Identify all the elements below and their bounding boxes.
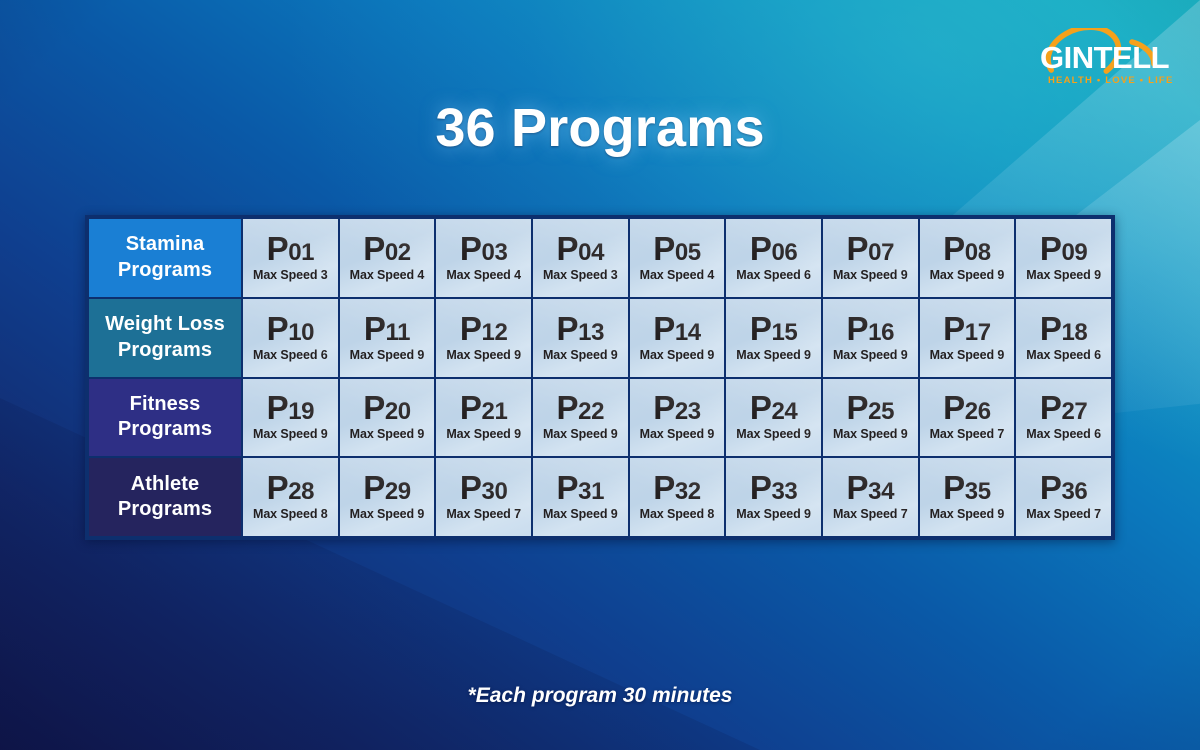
- program-max-speed: Max Speed 7: [825, 507, 916, 521]
- program-code-letter: P: [943, 230, 965, 267]
- program-code-letter: P: [847, 469, 869, 506]
- program-code-number: 33: [771, 478, 797, 505]
- program-code: P28: [245, 471, 336, 504]
- program-code-letter: P: [267, 230, 289, 267]
- program-max-speed: Max Speed 4: [342, 268, 433, 282]
- program-cell-P32[interactable]: P32Max Speed 8: [630, 458, 725, 536]
- program-max-speed: Max Speed 9: [535, 507, 626, 521]
- program-code-letter: P: [557, 310, 579, 347]
- program-code: P30: [438, 471, 529, 504]
- program-code-number: 28: [288, 478, 314, 505]
- program-cell-P02[interactable]: P02Max Speed 4: [340, 219, 435, 297]
- program-code-letter: P: [653, 389, 675, 426]
- program-cell-P18[interactable]: P18Max Speed 6: [1016, 299, 1111, 377]
- program-code-letter: P: [943, 389, 965, 426]
- program-cell-P11[interactable]: P11Max Speed 9: [340, 299, 435, 377]
- program-code-number: 01: [288, 239, 314, 266]
- program-code: P14: [632, 312, 723, 345]
- program-max-speed: Max Speed 9: [342, 348, 433, 362]
- program-code-number: 29: [385, 478, 411, 505]
- program-max-speed: Max Speed 8: [632, 507, 723, 521]
- program-code: P29: [342, 471, 433, 504]
- program-code-letter: P: [847, 310, 869, 347]
- program-code-letter: P: [653, 469, 675, 506]
- program-code: P33: [728, 471, 819, 504]
- program-cell-P12[interactable]: P12Max Speed 9: [436, 299, 531, 377]
- program-cell-P28[interactable]: P28Max Speed 8: [243, 458, 338, 536]
- program-cell-P34[interactable]: P34Max Speed 7: [823, 458, 918, 536]
- program-max-speed: Max Speed 4: [438, 268, 529, 282]
- program-max-speed: Max Speed 9: [632, 348, 723, 362]
- program-code-letter: P: [847, 389, 869, 426]
- program-cell-P24[interactable]: P24Max Speed 9: [726, 379, 821, 457]
- program-code-letter: P: [1040, 469, 1062, 506]
- program-code-number: 18: [1061, 319, 1087, 346]
- program-max-speed: Max Speed 9: [922, 268, 1013, 282]
- program-code-number: 24: [771, 398, 797, 425]
- program-cell-P21[interactable]: P21Max Speed 9: [436, 379, 531, 457]
- program-max-speed: Max Speed 9: [632, 427, 723, 441]
- logo-wordmark: GINTELL: [1040, 40, 1169, 75]
- program-max-speed: Max Speed 3: [245, 268, 336, 282]
- gintell-logo: GINTELL HEALTH • LOVE • LIFE: [1036, 28, 1182, 90]
- program-code-number: 26: [965, 398, 991, 425]
- program-cell-P08[interactable]: P08Max Speed 9: [920, 219, 1015, 297]
- program-max-speed: Max Speed 9: [728, 348, 819, 362]
- program-code: P21: [438, 391, 529, 424]
- program-code-letter: P: [460, 230, 482, 267]
- program-code-letter: P: [750, 469, 772, 506]
- program-code: P08: [922, 232, 1013, 265]
- program-code-letter: P: [557, 389, 579, 426]
- program-code-number: 22: [578, 398, 604, 425]
- program-cell-P09[interactable]: P09Max Speed 9: [1016, 219, 1111, 297]
- program-cell-P05[interactable]: P05Max Speed 4: [630, 219, 725, 297]
- program-code-letter: P: [267, 389, 289, 426]
- program-code-letter: P: [750, 310, 772, 347]
- program-code: P36: [1018, 471, 1109, 504]
- program-cell-P19[interactable]: P19Max Speed 9: [243, 379, 338, 457]
- program-code-letter: P: [557, 469, 579, 506]
- program-code-number: 21: [482, 398, 508, 425]
- program-cell-P31[interactable]: P31Max Speed 9: [533, 458, 628, 536]
- program-code-letter: P: [1040, 230, 1062, 267]
- program-code-letter: P: [653, 230, 675, 267]
- row-header-weight-loss: Weight LossPrograms: [89, 299, 241, 377]
- program-code-number: 27: [1061, 398, 1087, 425]
- program-code: P03: [438, 232, 529, 265]
- logo-tagline: HEALTH • LOVE • LIFE: [1048, 75, 1173, 86]
- program-code-number: 19: [288, 398, 314, 425]
- row-header-line2: Programs: [93, 258, 237, 284]
- row-header-line1: Athlete: [93, 472, 237, 498]
- row-header-line1: Weight Loss: [93, 312, 237, 338]
- row-header-line2: Programs: [93, 417, 237, 443]
- program-code: P24: [728, 391, 819, 424]
- program-max-speed: Max Speed 9: [728, 507, 819, 521]
- row-header-athlete: AthletePrograms: [89, 458, 241, 536]
- program-cell-P13[interactable]: P13Max Speed 9: [533, 299, 628, 377]
- program-max-speed: Max Speed 7: [438, 507, 529, 521]
- program-max-speed: Max Speed 9: [825, 348, 916, 362]
- program-code-number: 06: [771, 239, 797, 266]
- program-code: P26: [922, 391, 1013, 424]
- program-code-letter: P: [847, 230, 869, 267]
- program-code-letter: P: [1040, 389, 1062, 426]
- program-code: P12: [438, 312, 529, 345]
- program-code: P25: [825, 391, 916, 424]
- program-cell-P16[interactable]: P16Max Speed 9: [823, 299, 918, 377]
- program-max-speed: Max Speed 9: [825, 268, 916, 282]
- program-code: P04: [535, 232, 626, 265]
- program-code: P07: [825, 232, 916, 265]
- program-max-speed: Max Speed 6: [245, 348, 336, 362]
- program-max-speed: Max Speed 9: [825, 427, 916, 441]
- program-code-letter: P: [750, 230, 772, 267]
- program-cell-P15[interactable]: P15Max Speed 9: [726, 299, 821, 377]
- program-code-number: 20: [385, 398, 411, 425]
- program-cell-P29[interactable]: P29Max Speed 9: [340, 458, 435, 536]
- program-code-number: 35: [965, 478, 991, 505]
- program-code-letter: P: [363, 230, 385, 267]
- program-code-letter: P: [557, 230, 579, 267]
- program-cell-P17[interactable]: P17Max Speed 9: [920, 299, 1015, 377]
- program-code-number: 25: [868, 398, 894, 425]
- program-code: P09: [1018, 232, 1109, 265]
- program-code-number: 14: [675, 319, 701, 346]
- program-code: P22: [535, 391, 626, 424]
- program-max-speed: Max Speed 9: [535, 427, 626, 441]
- programs-table: StaminaProgramsP01Max Speed 3P02Max Spee…: [87, 217, 1113, 538]
- program-code-number: 04: [578, 239, 604, 266]
- table-row: AthleteProgramsP28Max Speed 8P29Max Spee…: [89, 458, 1111, 536]
- program-code: P11: [342, 312, 433, 345]
- program-code-letter: P: [460, 389, 482, 426]
- program-code-number: 11: [386, 319, 411, 346]
- program-code-letter: P: [364, 310, 386, 347]
- program-code: P31: [535, 471, 626, 504]
- program-cell-P01[interactable]: P01Max Speed 3: [243, 219, 338, 297]
- program-code-number: 10: [288, 319, 314, 346]
- program-cell-P30[interactable]: P30Max Speed 7: [436, 458, 531, 536]
- row-header-line2: Programs: [93, 338, 237, 364]
- page-title: 36 Programs: [0, 97, 1200, 159]
- program-cell-P07[interactable]: P07Max Speed 9: [823, 219, 918, 297]
- program-code-letter: P: [460, 469, 482, 506]
- program-cell-P06[interactable]: P06Max Speed 6: [726, 219, 821, 297]
- program-cell-P22[interactable]: P22Max Speed 9: [533, 379, 628, 457]
- program-code-number: 30: [482, 478, 508, 505]
- program-max-speed: Max Speed 7: [1018, 507, 1109, 521]
- program-max-speed: Max Speed 9: [342, 427, 433, 441]
- program-code-number: 36: [1061, 478, 1087, 505]
- program-code-number: 03: [482, 239, 508, 266]
- program-max-speed: Max Speed 3: [535, 268, 626, 282]
- program-cell-P23[interactable]: P23Max Speed 9: [630, 379, 725, 457]
- program-code-letter: P: [267, 310, 289, 347]
- program-max-speed: Max Speed 6: [1018, 427, 1109, 441]
- program-code-number: 08: [965, 239, 991, 266]
- program-max-speed: Max Speed 9: [535, 348, 626, 362]
- program-max-speed: Max Speed 7: [922, 427, 1013, 441]
- program-max-speed: Max Speed 9: [922, 507, 1013, 521]
- program-code: P15: [728, 312, 819, 345]
- program-max-speed: Max Speed 9: [728, 427, 819, 441]
- program-code-number: 31: [578, 478, 604, 505]
- program-code-letter: P: [1040, 310, 1062, 347]
- program-code-number: 02: [385, 239, 411, 266]
- program-code: P27: [1018, 391, 1109, 424]
- program-code-number: 12: [482, 319, 508, 346]
- program-code-number: 32: [675, 478, 701, 505]
- program-max-speed: Max Speed 8: [245, 507, 336, 521]
- program-max-speed: Max Speed 9: [438, 348, 529, 362]
- program-max-speed: Max Speed 4: [632, 268, 723, 282]
- program-code-number: 13: [578, 319, 604, 346]
- program-code-letter: P: [363, 469, 385, 506]
- program-code-letter: P: [653, 310, 675, 347]
- program-max-speed: Max Speed 9: [342, 507, 433, 521]
- program-code-letter: P: [943, 469, 965, 506]
- program-cell-P36[interactable]: P36Max Speed 7: [1016, 458, 1111, 536]
- program-cell-P35[interactable]: P35Max Speed 9: [920, 458, 1015, 536]
- program-code: P17: [922, 312, 1013, 345]
- program-cell-P27[interactable]: P27Max Speed 6: [1016, 379, 1111, 457]
- table-row: StaminaProgramsP01Max Speed 3P02Max Spee…: [89, 219, 1111, 297]
- program-max-speed: Max Speed 9: [438, 427, 529, 441]
- program-code: P13: [535, 312, 626, 345]
- program-code: P02: [342, 232, 433, 265]
- program-cell-P04[interactable]: P04Max Speed 3: [533, 219, 628, 297]
- program-cell-P14[interactable]: P14Max Speed 9: [630, 299, 725, 377]
- program-max-speed: Max Speed 9: [245, 427, 336, 441]
- program-code-letter: P: [943, 310, 965, 347]
- program-code: P34: [825, 471, 916, 504]
- row-header-stamina: StaminaPrograms: [89, 219, 241, 297]
- program-code: P05: [632, 232, 723, 265]
- program-code-number: 05: [675, 239, 701, 266]
- program-code-number: 16: [868, 319, 894, 346]
- program-code: P35: [922, 471, 1013, 504]
- program-code-number: 09: [1061, 239, 1087, 266]
- program-code: P32: [632, 471, 723, 504]
- program-code: P10: [245, 312, 336, 345]
- program-code: P19: [245, 391, 336, 424]
- program-max-speed: Max Speed 6: [728, 268, 819, 282]
- program-cell-P10[interactable]: P10Max Speed 6: [243, 299, 338, 377]
- program-code-letter: P: [750, 389, 772, 426]
- program-max-speed: Max Speed 9: [1018, 268, 1109, 282]
- program-cell-P33[interactable]: P33Max Speed 9: [726, 458, 821, 536]
- program-max-speed: Max Speed 6: [1018, 348, 1109, 362]
- table-row: Weight LossProgramsP10Max Speed 6P11Max …: [89, 299, 1111, 377]
- program-code: P18: [1018, 312, 1109, 345]
- program-code-number: 23: [675, 398, 701, 425]
- row-header-line1: Fitness: [93, 392, 237, 418]
- row-header-line1: Stamina: [93, 232, 237, 258]
- program-cell-P26[interactable]: P26Max Speed 7: [920, 379, 1015, 457]
- program-cell-P20[interactable]: P20Max Speed 9: [340, 379, 435, 457]
- program-code: P23: [632, 391, 723, 424]
- program-code: P20: [342, 391, 433, 424]
- program-code-number: 07: [868, 239, 894, 266]
- program-code: P06: [728, 232, 819, 265]
- program-cell-P25[interactable]: P25Max Speed 9: [823, 379, 918, 457]
- program-code: P16: [825, 312, 916, 345]
- program-code: P01: [245, 232, 336, 265]
- footnote-text: *Each program 30 minutes: [0, 684, 1200, 708]
- row-header-fitness: FitnessPrograms: [89, 379, 241, 457]
- program-code-number: 34: [868, 478, 894, 505]
- program-code-letter: P: [460, 310, 482, 347]
- program-code-number: 17: [965, 319, 991, 346]
- programs-table-container: StaminaProgramsP01Max Speed 3P02Max Spee…: [85, 215, 1115, 540]
- program-code-number: 15: [771, 319, 797, 346]
- program-code-letter: P: [363, 389, 385, 426]
- program-cell-P03[interactable]: P03Max Speed 4: [436, 219, 531, 297]
- table-row: FitnessProgramsP19Max Speed 9P20Max Spee…: [89, 379, 1111, 457]
- program-max-speed: Max Speed 9: [922, 348, 1013, 362]
- programs-table-body: StaminaProgramsP01Max Speed 3P02Max Spee…: [89, 219, 1111, 536]
- row-header-line2: Programs: [93, 497, 237, 523]
- program-code-letter: P: [267, 469, 289, 506]
